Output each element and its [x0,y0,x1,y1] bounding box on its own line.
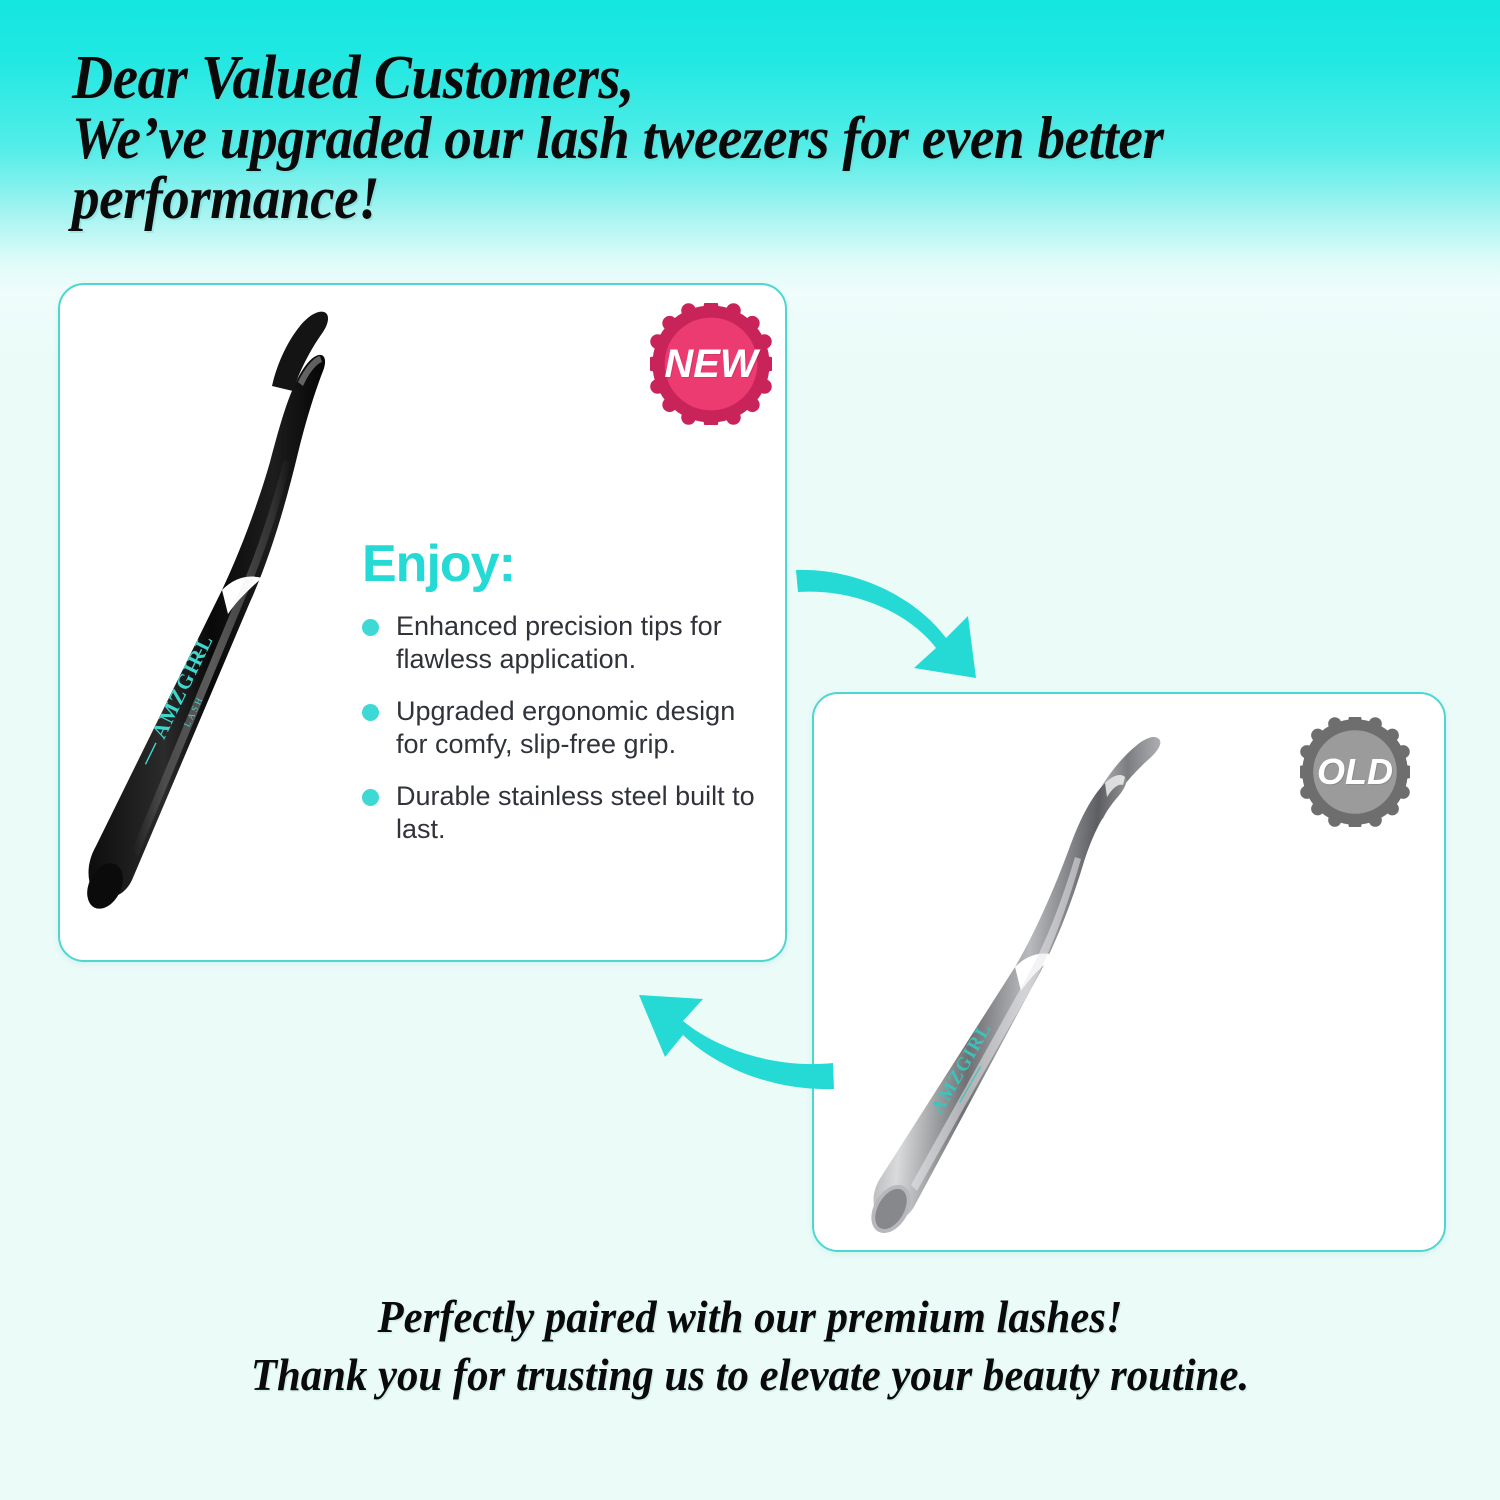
old-badge-label: OLD [1300,717,1410,827]
old-silver-lash-tweezer: AMZGIRL [855,715,1275,1235]
bullet-dot-icon [362,789,379,806]
footer-line-1: Perfectly paired with our premium lashes… [53,1288,1448,1346]
headline-line-2: We’ve upgraded our lash tweezers for eve… [72,108,1351,168]
benefit-text: Enhanced precision tips for flawless app… [396,611,722,674]
infographic-canvas: Dear Valued Customers, We’ve upgraded ou… [0,0,1500,1500]
list-item: Upgraded ergonomic design for comfy, sli… [362,695,766,761]
enjoy-heading: Enjoy: [362,536,766,592]
new-badge-label: NEW [650,303,772,425]
benefits-block: Enjoy: Enhanced precision tips for flawl… [362,536,766,865]
headline-line-1: Dear Valued Customers, [72,48,1351,108]
curved-arrow-down-right-icon [790,552,995,682]
benefit-text: Durable stainless steel built to last. [396,781,755,844]
footer-line-2: Thank you for trusting us to elevate you… [53,1346,1448,1404]
new-badge: NEW [650,303,772,425]
bullet-dot-icon [362,704,379,721]
page-title: Dear Valued Customers, We’ve upgraded ou… [72,48,1351,228]
footer-message: Perfectly paired with our premium lashes… [0,1288,1500,1404]
headline-line-3: performance! [72,168,1351,228]
curved-arrow-up-left-icon [625,985,840,1105]
bullet-dot-icon [362,619,379,636]
list-item: Durable stainless steel built to last. [362,780,766,846]
benefits-list: Enhanced precision tips for flawless app… [362,610,766,846]
list-item: Enhanced precision tips for flawless app… [362,610,766,676]
old-badge: OLD [1300,717,1410,827]
benefit-text: Upgraded ergonomic design for comfy, sli… [396,696,735,759]
